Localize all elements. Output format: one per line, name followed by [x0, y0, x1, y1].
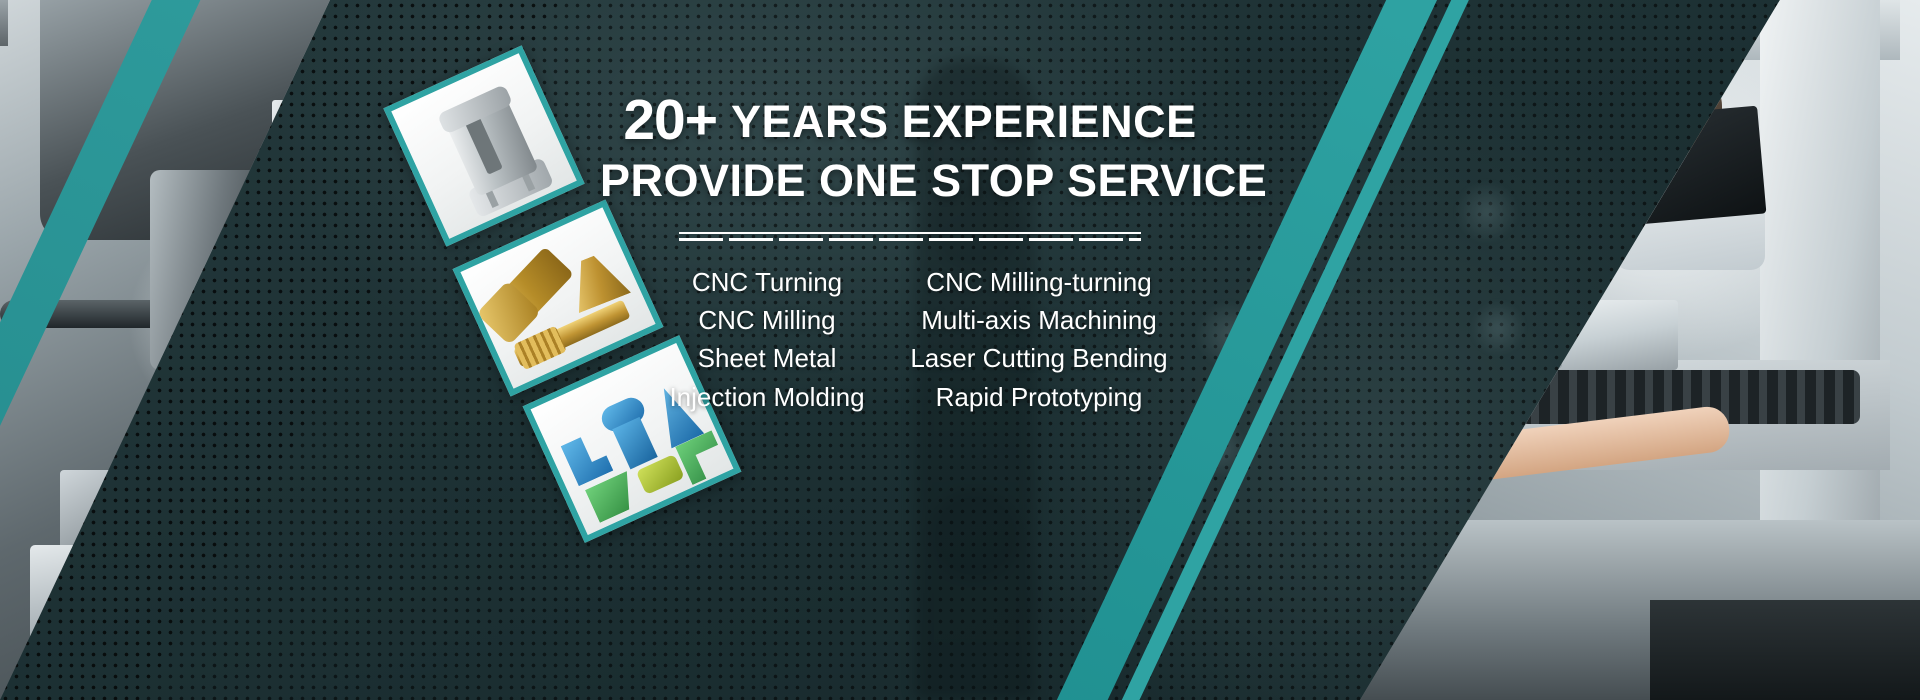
banner-content: 20+YEARS EXPERIENCE PROVIDE ONE STOP SER…: [600, 92, 1220, 418]
services-list: CNC Turning CNC Milling-turning CNC Mill…: [600, 265, 1220, 414]
headline-line-2: PROVIDE ONE STOP SERVICE: [600, 157, 1220, 206]
services-row: Sheet Metal Laser Cutting Bending: [600, 341, 1220, 375]
bokeh-light: [1470, 300, 1526, 356]
divider-line-dashed: [679, 238, 1141, 241]
services-row: Injection Molding Rapid Prototyping: [600, 380, 1220, 414]
service-item: Sheet Metal: [638, 341, 896, 375]
service-item: CNC Milling: [638, 303, 896, 337]
service-item: Injection Molding: [638, 380, 896, 414]
divider-line-solid: [679, 232, 1141, 234]
service-item: Rapid Prototyping: [896, 380, 1182, 414]
service-item: Laser Cutting Bending: [896, 341, 1182, 375]
machine-shadow: [1650, 600, 1920, 700]
headline-line-1: 20+YEARS EXPERIENCE: [600, 92, 1220, 149]
machine-drill-bit: [0, 0, 8, 46]
cnc-services-banner: 20+YEARS EXPERIENCE PROVIDE ONE STOP SER…: [0, 0, 1920, 700]
years-number: 20+: [623, 88, 717, 152]
product-card-steel-fixture: [383, 45, 584, 246]
bokeh-light: [1455, 180, 1519, 244]
service-item: CNC Milling-turning: [896, 265, 1182, 299]
service-item: CNC Turning: [638, 265, 896, 299]
headline-line-1-text: YEARS EXPERIENCE: [731, 96, 1197, 147]
services-row: CNC Turning CNC Milling-turning: [600, 265, 1220, 299]
service-item: Multi-axis Machining: [896, 303, 1182, 337]
divider: [679, 232, 1141, 241]
services-row: CNC Milling Multi-axis Machining: [600, 303, 1220, 337]
